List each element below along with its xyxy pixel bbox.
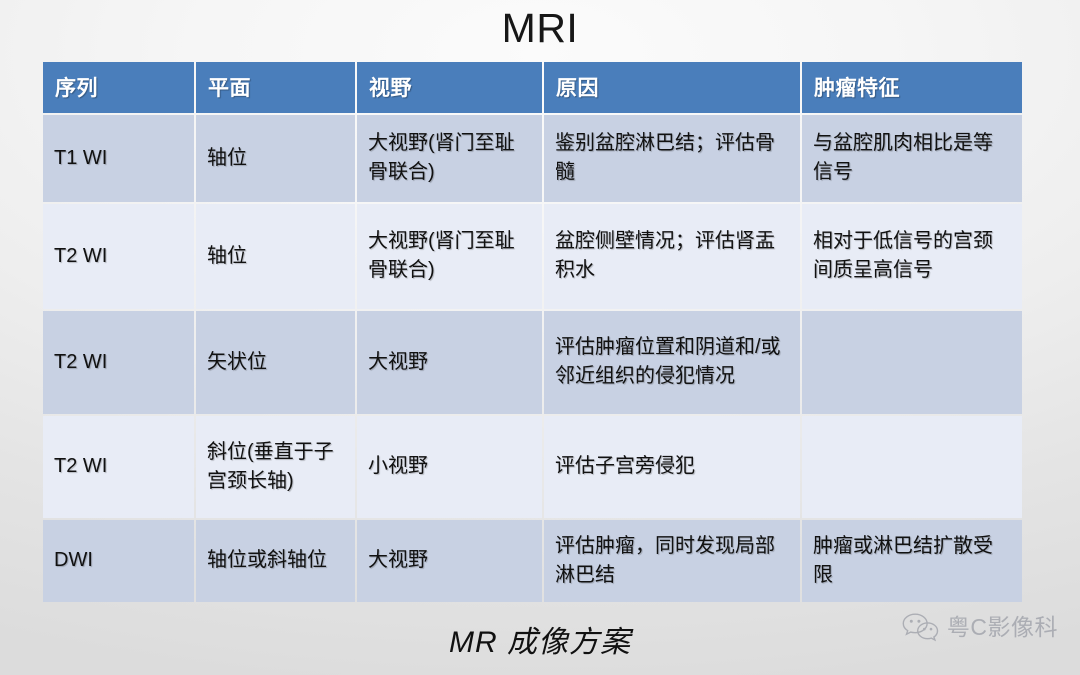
- watermark: 粤C影像科: [900, 612, 1058, 642]
- column-header-tumor: 肿瘤特征: [802, 62, 1022, 113]
- cell-sequence: T2 WI: [43, 311, 194, 414]
- cell-fov: 大视野: [357, 520, 542, 602]
- column-header-reason: 原因: [544, 62, 800, 113]
- column-header-plane: 平面: [196, 62, 355, 113]
- page-title: MRI: [0, 2, 1080, 54]
- cell-fov: 大视野(肾门至耻骨联合): [357, 204, 542, 309]
- table-row: T2 WI 轴位 大视野(肾门至耻骨联合) 盆腔侧壁情况；评估肾盂积水 相对于低…: [43, 204, 1022, 309]
- cell-plane: 轴位: [196, 115, 355, 202]
- cell-tumor: 与盆腔肌肉相比是等信号: [802, 115, 1022, 202]
- table-row: T2 WI 斜位(垂直于子宫颈长轴) 小视野 评估子宫旁侵犯: [43, 416, 1022, 518]
- table-row: DWI 轴位或斜轴位 大视野 评估肿瘤，同时发现局部淋巴结 肿瘤或淋巴结扩散受限: [43, 520, 1022, 602]
- table-row: T1 WI 轴位 大视野(肾门至耻骨联合) 鉴别盆腔淋巴结；评估骨髓 与盆腔肌肉…: [43, 115, 1022, 202]
- cell-reason: 盆腔侧壁情况；评估肾盂积水: [544, 204, 800, 309]
- cell-reason: 评估肿瘤，同时发现局部淋巴结: [544, 520, 800, 602]
- cell-sequence: T2 WI: [43, 204, 194, 309]
- cell-tumor: [802, 311, 1022, 414]
- cell-fov: 大视野: [357, 311, 542, 414]
- table-row: T2 WI 矢状位 大视野 评估肿瘤位置和阴道和/或邻近组织的侵犯情况: [43, 311, 1022, 414]
- cell-fov: 大视野(肾门至耻骨联合): [357, 115, 542, 202]
- cell-sequence: DWI: [43, 520, 194, 602]
- cell-reason: 鉴别盆腔淋巴结；评估骨髓: [544, 115, 800, 202]
- cell-sequence: T1 WI: [43, 115, 194, 202]
- mri-protocol-table: 序列 平面 视野 原因 肿瘤特征 T1 WI 轴位 大视野(肾门至耻骨联合) 鉴…: [41, 60, 1024, 604]
- slide-canvas: MRI 序列 平面 视野 原因 肿瘤特征 T1 WI 轴位 大视野(肾门至耻骨联…: [0, 0, 1080, 675]
- cell-tumor: 肿瘤或淋巴结扩散受限: [802, 520, 1022, 602]
- cell-plane: 轴位: [196, 204, 355, 309]
- cell-plane: 斜位(垂直于子宫颈长轴): [196, 416, 355, 518]
- column-header-sequence: 序列: [43, 62, 194, 113]
- cell-fov: 小视野: [357, 416, 542, 518]
- cell-plane: 矢状位: [196, 311, 355, 414]
- watermark-label: 粤C影像科: [947, 613, 1058, 641]
- column-header-fov: 视野: [357, 62, 542, 113]
- cell-reason: 评估肿瘤位置和阴道和/或邻近组织的侵犯情况: [544, 311, 800, 414]
- table-header-row: 序列 平面 视野 原因 肿瘤特征: [43, 62, 1022, 113]
- wechat-icon: [900, 612, 940, 642]
- cell-tumor: [802, 416, 1022, 518]
- cell-plane: 轴位或斜轴位: [196, 520, 355, 602]
- cell-reason: 评估子宫旁侵犯: [544, 416, 800, 518]
- cell-tumor: 相对于低信号的宫颈间质呈高信号: [802, 204, 1022, 309]
- cell-sequence: T2 WI: [43, 416, 194, 518]
